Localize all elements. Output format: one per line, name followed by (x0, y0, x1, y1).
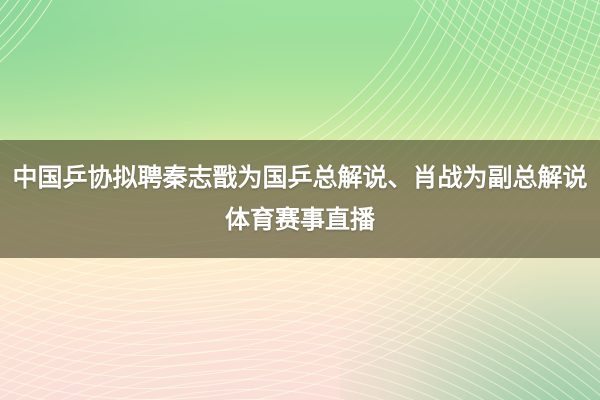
page-title: 中国乒协拟聘秦志戬为国乒总解说、肖战为副总解说体育赛事直播 (6, 157, 594, 241)
promo-banner: 中国乒协拟聘秦志戬为国乒总解说、肖战为副总解说体育赛事直播 (0, 0, 600, 400)
headline-band: 中国乒协拟聘秦志戬为国乒总解说、肖战为副总解说体育赛事直播 (0, 140, 600, 258)
